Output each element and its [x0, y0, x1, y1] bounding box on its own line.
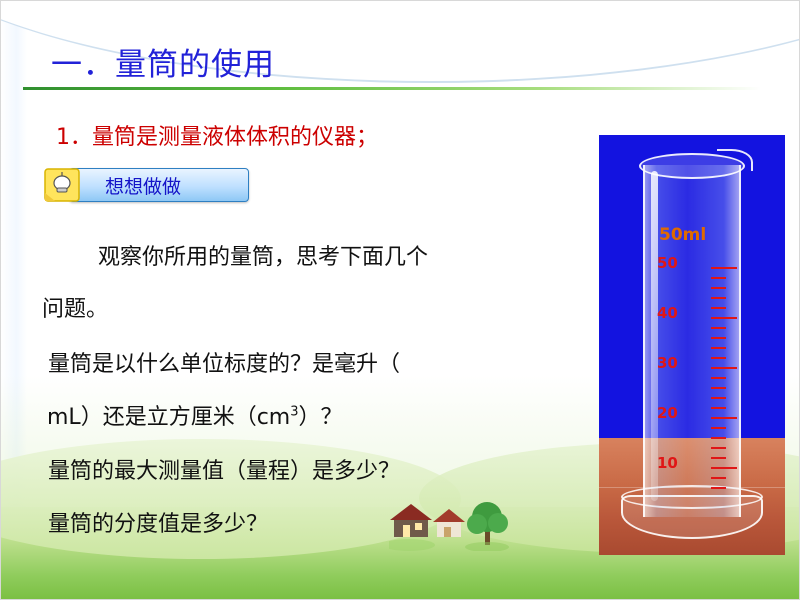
scale-tick-minor — [711, 357, 726, 359]
scale-tick-major — [711, 367, 737, 369]
scale-tick-minor — [711, 287, 726, 289]
scale-label: 50 — [657, 254, 678, 272]
paragraph-5: 量筒的最大测量值（量程）是多少？ — [48, 453, 400, 485]
paragraph-4-tail: ）？ — [299, 405, 343, 430]
scale-label: 30 — [657, 354, 678, 372]
scale-tick-minor — [711, 477, 726, 479]
paragraph-6: 量筒的分度值是多少？ — [48, 506, 268, 538]
graduated-cylinder-image: 50ml 5040302010 — [599, 135, 785, 555]
scale-tick-minor — [711, 457, 726, 459]
paragraph-2: 问题。 — [42, 291, 108, 323]
scale-tick-minor — [711, 377, 726, 379]
scale-tick-major — [711, 467, 737, 469]
scale-tick-major — [711, 267, 737, 269]
badge-label: 想想做做 — [105, 172, 181, 199]
scale-tick-minor — [711, 297, 726, 299]
cylinder-unit-label: 50ml — [659, 225, 706, 245]
scale-tick-minor — [711, 277, 726, 279]
scale-tick-minor — [711, 347, 726, 349]
paragraph-1: 观察你所用的量筒，思考下面几个 — [98, 239, 428, 271]
scale-tick-minor — [711, 397, 726, 399]
scale-label: 10 — [657, 454, 678, 472]
item-1-text: 1．量筒是测量液体体积的仪器； — [56, 119, 378, 151]
scale-tick-minor — [711, 327, 726, 329]
paragraph-4: mL）还是立方厘米（cm3）？ — [47, 399, 343, 431]
scale-tick-minor — [711, 447, 726, 449]
lightbulb-note-icon — [43, 167, 91, 203]
scale-tick-major — [711, 317, 737, 319]
cylinder-highlight — [651, 171, 658, 501]
scale-tick-minor — [711, 407, 726, 409]
scale-tick-minor — [711, 337, 726, 339]
scale-label: 40 — [657, 304, 678, 322]
scale-tick-minor — [711, 427, 726, 429]
paragraph-3: 量筒是以什么单位标度的？是毫升（ — [48, 346, 400, 378]
paragraph-4-superscript: 3 — [290, 405, 298, 420]
scale-tick-minor — [711, 307, 726, 309]
scale-tick-major — [711, 417, 737, 419]
title-underline — [23, 87, 761, 90]
page-title: 一．量筒的使用 — [51, 39, 275, 84]
scale-tick-minor — [711, 437, 726, 439]
scale-tick-minor — [711, 387, 726, 389]
house-and-tree-scene — [389, 491, 519, 551]
scale-label: 20 — [657, 404, 678, 422]
scale-tick-minor — [711, 487, 726, 489]
paragraph-4-main: mL）还是立方厘米（cm — [47, 405, 290, 430]
slide-canvas: 一．量筒的使用 1．量筒是测量液体体积的仪器； 想想做做 观察你所用的量筒，思考… — [0, 0, 800, 600]
think-and-do-badge[interactable]: 想想做做 — [43, 167, 248, 201]
